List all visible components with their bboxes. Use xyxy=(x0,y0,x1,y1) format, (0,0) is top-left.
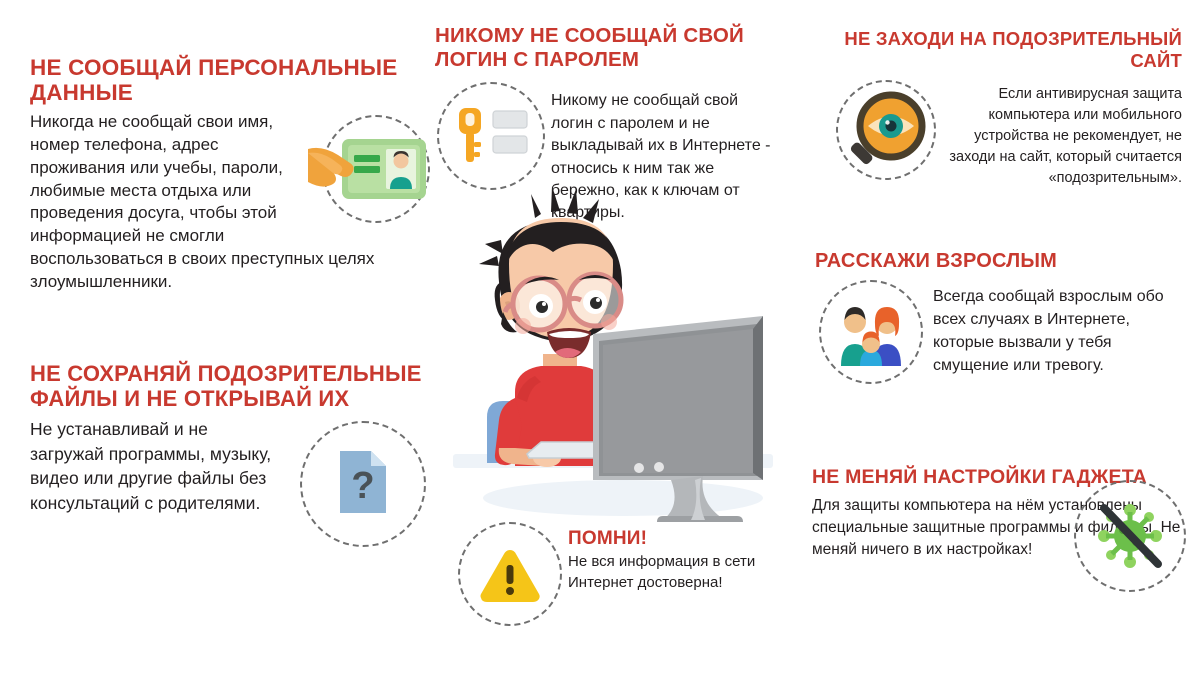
block-gadget-settings: НЕ МЕНЯЙ НАСТРОЙКИ ГАДЖЕТА Для защиты ко… xyxy=(812,466,1192,561)
magnifier-eye-icon-art xyxy=(844,88,930,174)
block-tell-adults: РАССКАЖИ ВЗРОСЛЫМ xyxy=(815,250,1175,392)
key-icon-art xyxy=(453,104,529,168)
login-password-heading: НИКОМУ НЕ СООБЩАЙ СВОЙ ЛОГИН С ПАРОЛЕМ xyxy=(435,24,780,72)
virus-blocked-icon-art xyxy=(1096,502,1164,570)
key-and-login-fields-icon xyxy=(435,82,551,194)
virus-blocked-icon xyxy=(1074,480,1192,598)
suspicious-site-heading: НЕ ЗАХОДИ НА ПОДОЗРИТЕЛЬНЫЙ САЙТ xyxy=(830,28,1182,72)
infographic-poster: НЕ СООБЩАЙ ПЕРСОНАЛЬНЫЕ ДАННЫЕ xyxy=(0,0,1200,675)
block-suspicious-files: НЕ СОХРАНЯЙ ПОДОЗРИТЕЛЬНЫЕ ФАЙЛЫ И НЕ ОТ… xyxy=(30,362,430,561)
remember-text: Не вся информация в сети Интернет достов… xyxy=(568,552,758,593)
block-remember: ПОМНИ! Не вся информация в сети Интернет… xyxy=(458,522,758,630)
family-icon xyxy=(815,280,933,392)
suspicious-site-text: Если антивирусная защита компьютера или … xyxy=(940,78,1182,189)
warning-triangle-icon xyxy=(458,522,568,630)
remember-heading: ПОМНИ! xyxy=(568,528,758,549)
personal-data-body: Никогда не сообщай свои имя, номер телеф… xyxy=(30,111,430,293)
suspicious-files-heading: НЕ СОХРАНЯЙ ПОДОЗРИТЕЛЬНЫЕ ФАЙЛЫ И НЕ ОТ… xyxy=(30,362,430,411)
magnifier-eye-icon xyxy=(830,78,940,190)
boy-at-computer-art xyxy=(443,186,783,531)
id-card-in-hand-icon xyxy=(306,113,430,229)
tell-adults-text: Всегда сообщай взрослым обо всех случаях… xyxy=(933,280,1175,377)
unknown-file-icon-art: ? xyxy=(340,451,386,513)
suspicious-files-body: ? Не устанавливай и не загружай программ… xyxy=(30,417,430,515)
tell-adults-heading: РАССКАЖИ ВЗРОСЛЫМ xyxy=(815,250,1175,272)
unknown-file-icon: ? xyxy=(290,421,430,561)
personal-data-heading: НЕ СООБЩАЙ ПЕРСОНАЛЬНЫЕ ДАННЫЕ xyxy=(30,55,430,105)
warning-triangle-icon-art xyxy=(478,548,542,604)
block-personal-data: НЕ СООБЩАЙ ПЕРСОНАЛЬНЫЕ ДАННЫЕ xyxy=(30,55,430,294)
svg-text:?: ? xyxy=(351,465,374,507)
block-suspicious-site: НЕ ЗАХОДИ НА ПОДОЗРИТЕЛЬНЫЙ САЙТ Если ан… xyxy=(830,28,1182,190)
boy-at-computer-illustration xyxy=(443,186,783,531)
family-icon-art xyxy=(839,300,905,366)
id-card-icon-art xyxy=(308,135,430,207)
